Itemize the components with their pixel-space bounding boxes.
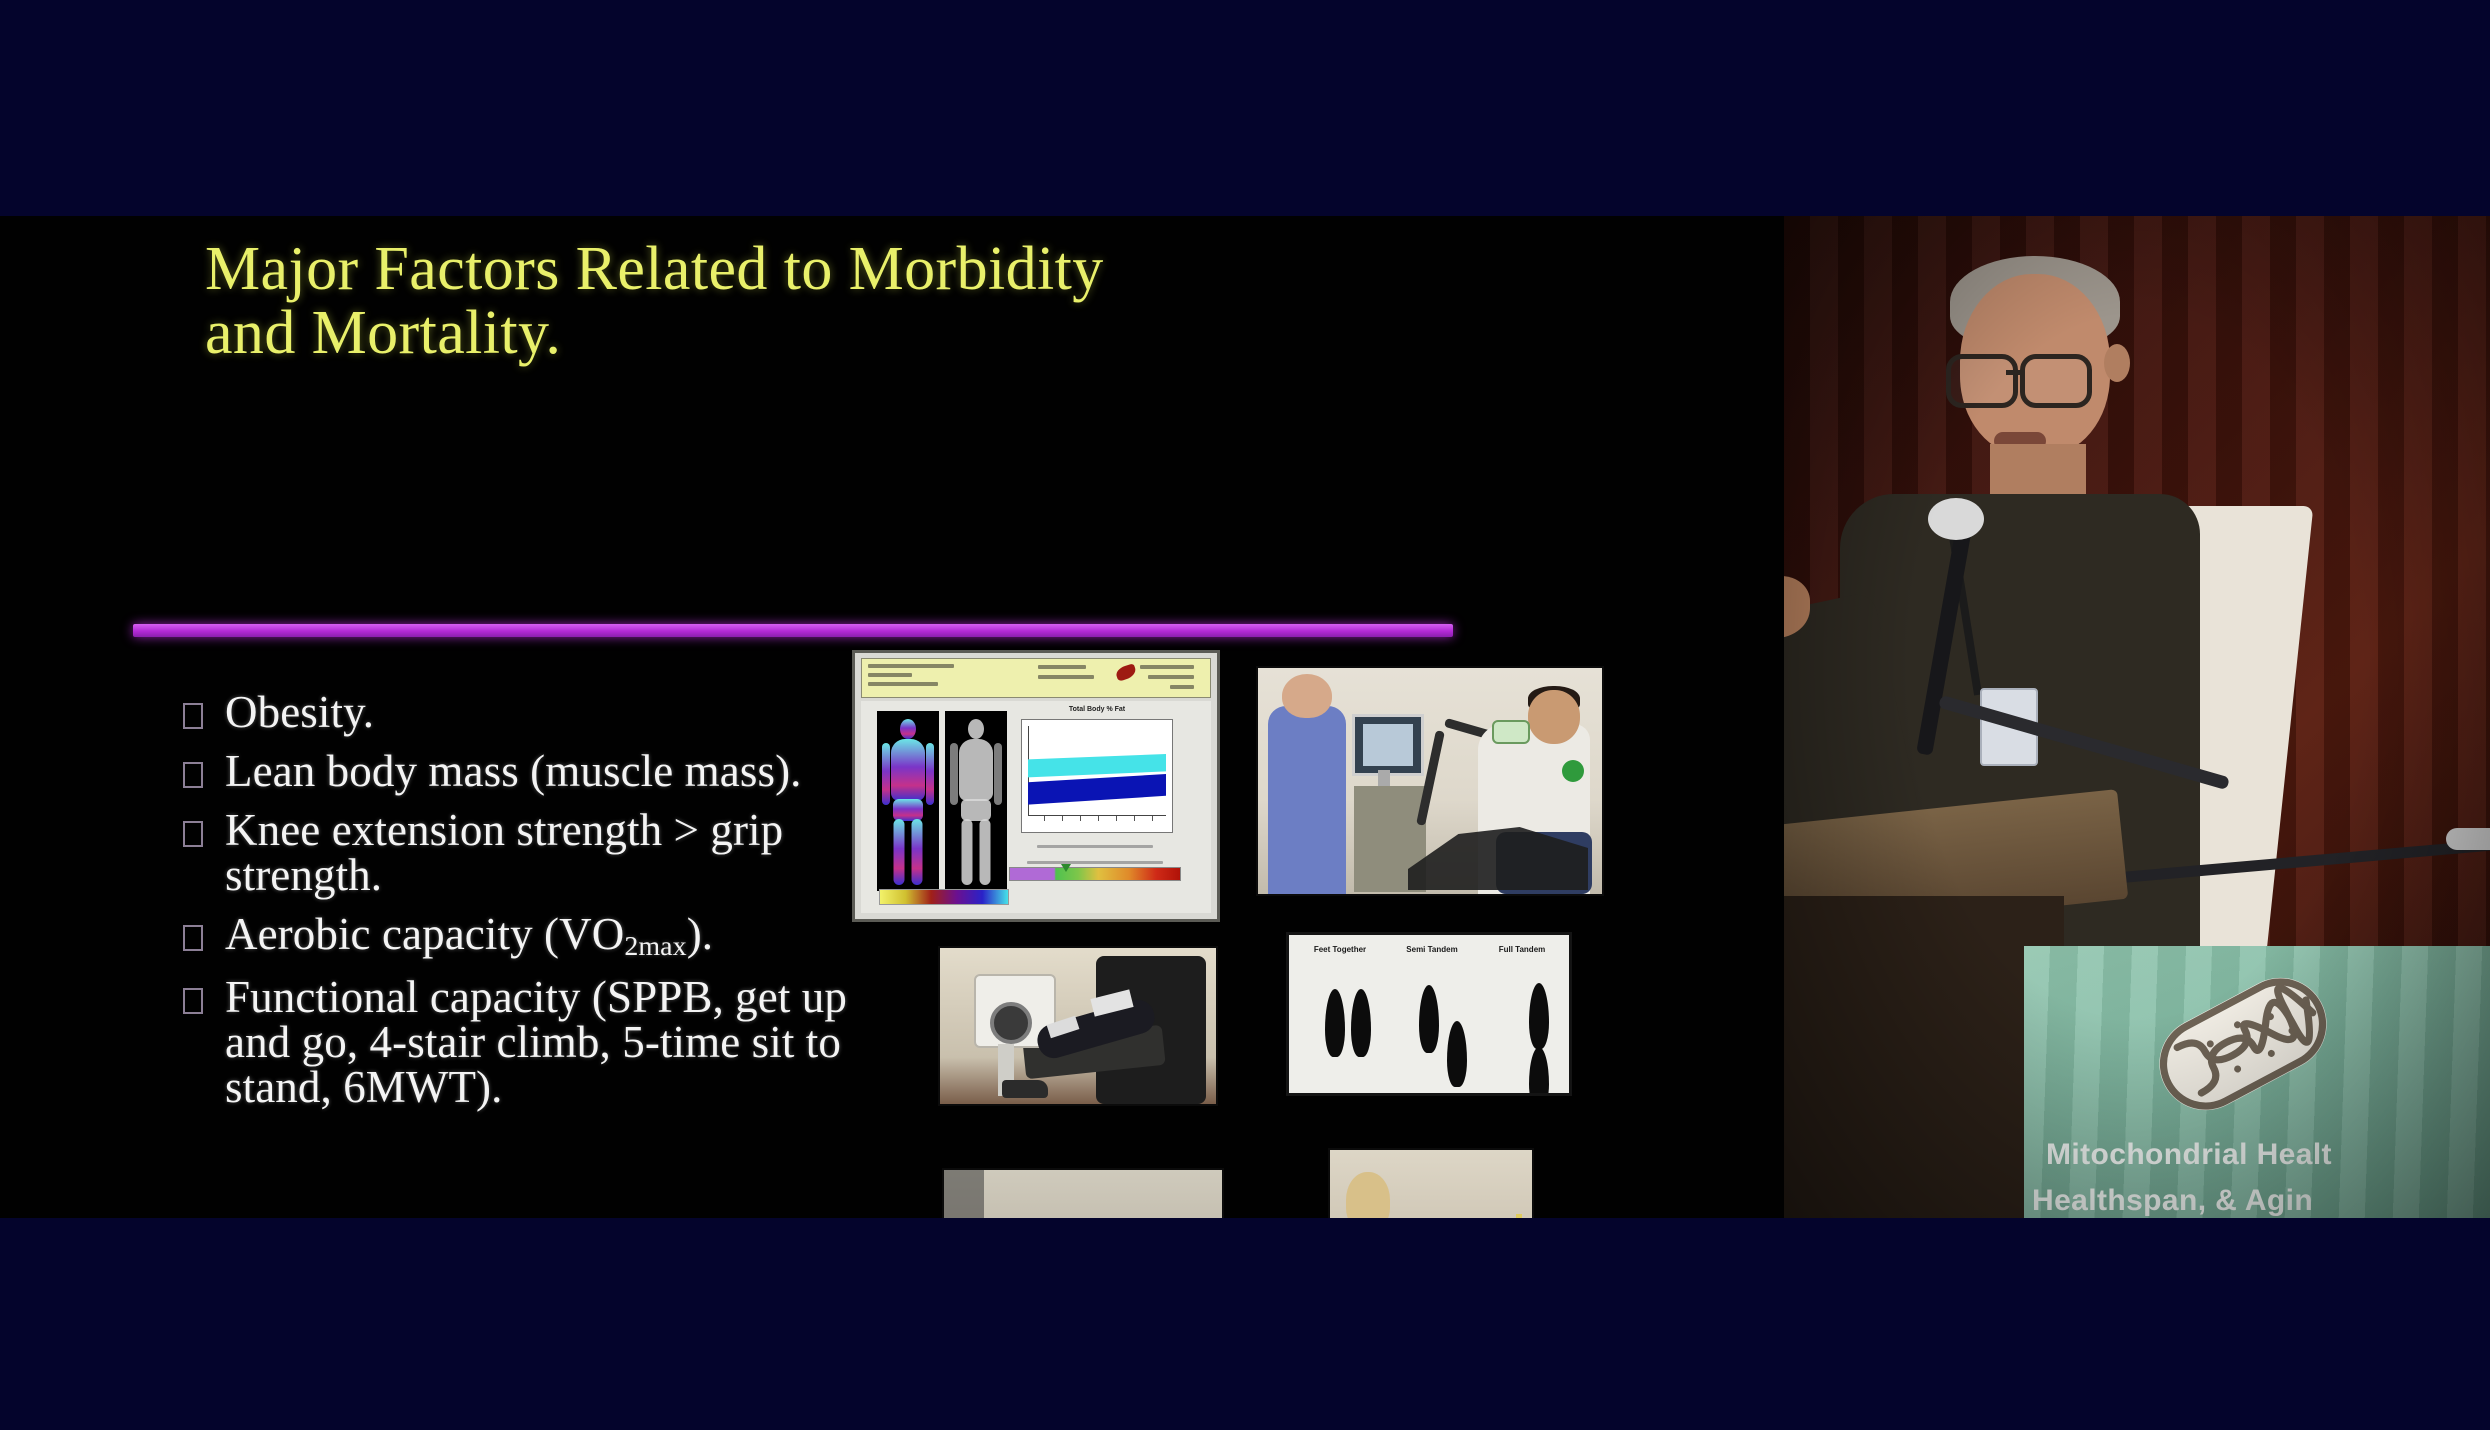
- bullet-square-icon: [183, 703, 203, 729]
- list-item: Knee extension strength > grip strength.: [183, 808, 923, 898]
- stair-climb-image: [1328, 1148, 1534, 1218]
- sppb-balance-diagram: Feet Together Semi Tandem Full Tandem: [1286, 932, 1572, 1096]
- dexa-report-image: Total Body % Fat: [852, 650, 1220, 922]
- slide-title: Major Factors Related to Morbidity and M…: [205, 238, 1385, 366]
- bullet-text-vo2max: Aerobic capacity (VO2max).: [225, 912, 713, 961]
- bullet-list: Obesity. Lean body mass (muscle mass). K…: [183, 690, 923, 1124]
- knee-extension-test-image: [938, 946, 1218, 1106]
- list-item: Lean body mass (muscle mass).: [183, 749, 923, 794]
- list-item: Obesity.: [183, 690, 923, 735]
- bullet-text: Lean body mass (muscle mass).: [225, 749, 802, 794]
- bullet-text: Functional capacity (SPPB, get up and go…: [225, 975, 923, 1110]
- slide-title-line1: Major Factors Related to Morbidity: [205, 238, 1385, 302]
- dexa-bone-scan: [877, 711, 939, 891]
- dexa-soft-tissue-scan: [945, 711, 1007, 891]
- total-body-fat-chart: Total Body % Fat: [1021, 719, 1173, 833]
- screen: Major Factors Related to Morbidity and M…: [0, 0, 2490, 1430]
- bullet-text: Obesity.: [225, 690, 374, 735]
- stance-label-semi-tandem: Semi Tandem: [1395, 945, 1469, 955]
- four-step-stairs: [1396, 1216, 1528, 1218]
- list-item: Aerobic capacity (VO2max).: [183, 912, 923, 961]
- mitochondria-icon: [2140, 964, 2346, 1124]
- chart-title: Total Body % Fat: [1022, 706, 1172, 713]
- bullet-square-icon: [183, 988, 203, 1014]
- banner-line2: Healthspan, & Agin: [2032, 1184, 2313, 1218]
- mouthpiece-icon: [1492, 720, 1530, 744]
- dexa-color-legend: [879, 889, 1009, 905]
- bmi-color-scale: [1009, 867, 1181, 881]
- vo2max-test-image: [1256, 666, 1604, 896]
- scale-marker-icon: [1061, 864, 1071, 872]
- six-minute-walk-image: [942, 1168, 1224, 1218]
- eyeglasses-icon: [1946, 354, 2018, 408]
- letterbox-top: [0, 0, 2490, 216]
- vo2-post: ).: [687, 909, 713, 959]
- eyeglasses-icon: [2020, 354, 2092, 408]
- dexa-logo-icon: [1114, 663, 1137, 682]
- dexa-header-bar: [861, 658, 1211, 698]
- bullet-square-icon: [183, 821, 203, 847]
- microphone-icon-secondary: [2446, 828, 2490, 850]
- bullet-text: Knee extension strength > grip strength.: [225, 808, 923, 898]
- microphone-icon: [1928, 498, 1984, 540]
- stance-label-feet-together: Feet Together: [1303, 945, 1377, 955]
- presentation-slide: Major Factors Related to Morbidity and M…: [0, 216, 1784, 1218]
- bullet-square-icon: [183, 762, 203, 788]
- podium-body: [1784, 896, 2064, 1218]
- dexa-report-body: Total Body % Fat: [861, 701, 1211, 913]
- title-divider-rule: [133, 624, 1453, 637]
- stance-label-full-tandem: Full Tandem: [1485, 945, 1559, 955]
- list-item: Functional capacity (SPPB, get up and go…: [183, 975, 923, 1110]
- video-frame[interactable]: Major Factors Related to Morbidity and M…: [0, 216, 2490, 1218]
- speaker-video: Mitochondrial Healt Healthspan, & Agin: [1784, 216, 2490, 1218]
- letterbox-bottom: [0, 1218, 2490, 1430]
- vo2-pre: Aerobic capacity (VO: [225, 909, 624, 959]
- podium-banner: Mitochondrial Healt Healthspan, & Agin: [2024, 946, 2490, 1218]
- slide-title-line2: and Mortality.: [205, 302, 1385, 366]
- bullet-square-icon: [183, 925, 203, 951]
- banner-line1: Mitochondrial Healt: [2046, 1138, 2332, 1172]
- chart-band-lower: [1028, 772, 1166, 806]
- vo2-subscript: 2max: [624, 931, 686, 962]
